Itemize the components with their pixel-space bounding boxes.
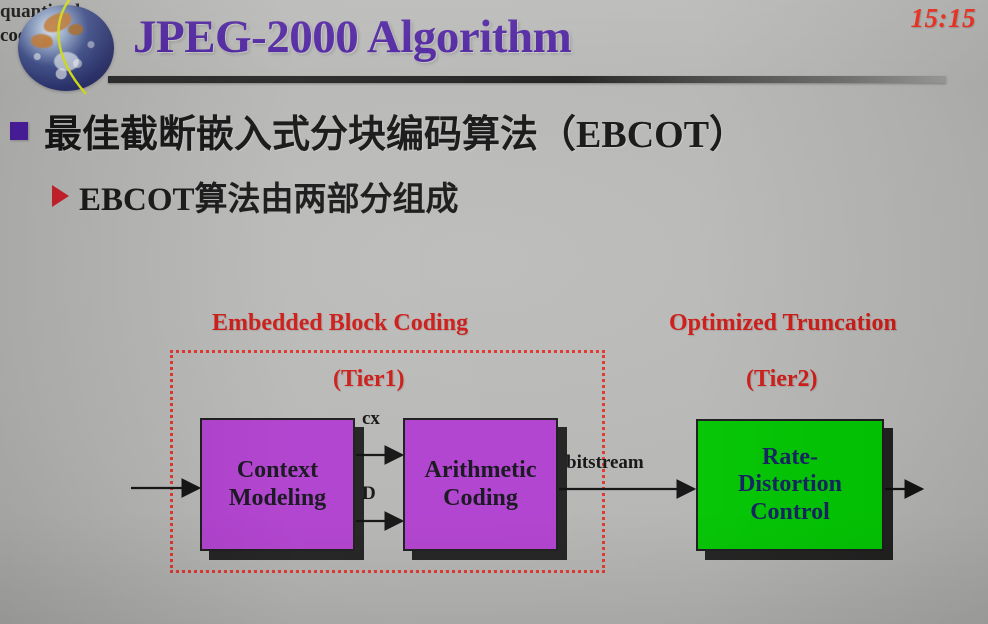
block-label-line1: Rate- [762,444,818,471]
title-underline-rule [108,76,946,83]
tier1-group-title: Embedded Block Coding [212,310,468,337]
block-label-line2: Distortion [738,471,842,498]
presentation-slide: JPEG-2000 Algorithm 15:15 最佳截断嵌入式分块编码算法（… [0,0,988,624]
block-label-line1: Arithmetic [425,457,537,484]
block-label-line3: Control [750,499,830,526]
bullet-level1: 最佳截断嵌入式分块编码算法（EBCOT） [10,103,747,158]
block-arithmetic-coding[interactable]: Arithmetic Coding [403,418,558,551]
block-label-line1: Context [237,457,318,484]
edge-label-bitstream: bitstream [566,452,644,474]
arrow-bullet-icon [52,185,69,207]
square-bullet-icon [10,122,28,140]
bullet-level2-label: EBCOT算法由两部分组成 [79,172,459,220]
bullet-level2: EBCOT算法由两部分组成 [52,172,459,220]
globe-icon [18,5,114,91]
block-context-modeling[interactable]: Context Modeling [200,418,355,551]
bullet-level1-label: 最佳截断嵌入式分块编码算法（EBCOT） [44,103,747,158]
block-label-line2: Coding [443,485,518,512]
edge-label-d: D [362,483,376,505]
globe-cloud-speckle [18,5,114,91]
block-rate-distortion-control[interactable]: Rate- Distortion Control [696,419,884,551]
block-label-line2: Modeling [229,485,326,512]
tier2-group-subtitle: (Tier2) [746,366,818,393]
page-title: JPEG-2000 Algorithm [133,10,571,64]
clock-readout: 15:15 [911,3,977,34]
tier2-group-title: Optimized Truncation [669,310,897,337]
edge-label-cx: cx [362,408,380,430]
